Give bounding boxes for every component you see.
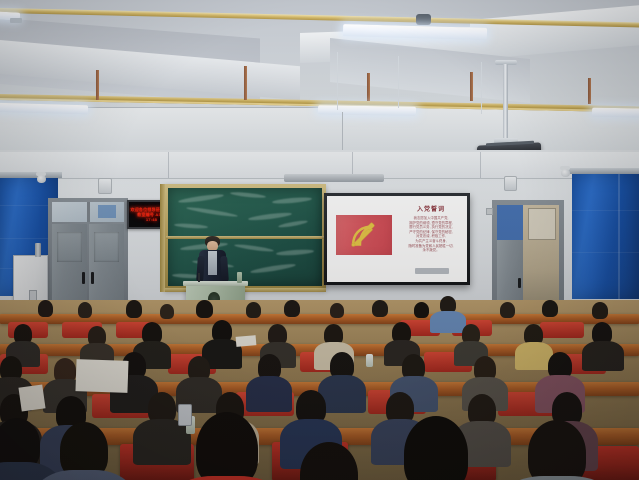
photo-vignette <box>0 0 639 480</box>
lecture-hall-photo: 欢迎各位领导莅临指导 教室编号 A302 17:48 <box>0 0 639 480</box>
